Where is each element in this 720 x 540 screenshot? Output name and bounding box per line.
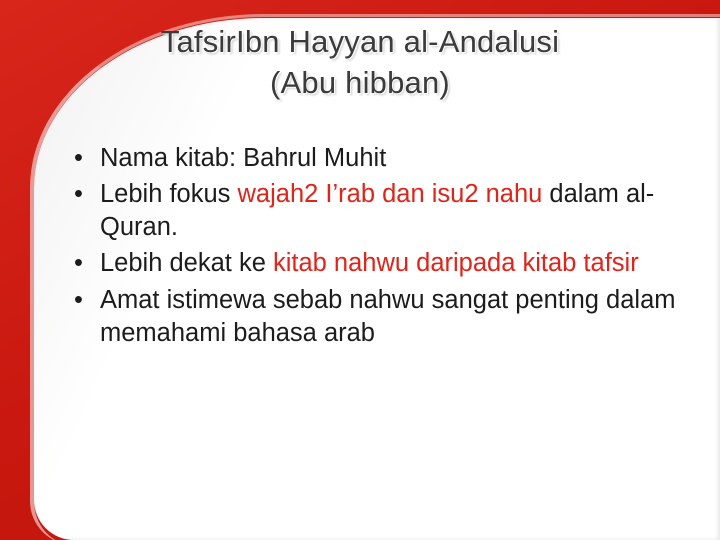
bullet-text-highlight: kitab nahwu daripada kitab tafsir — [273, 249, 639, 277]
presentation-slide: TafsirIbn Hayyan al-Andalusi (Abu hibban… — [0, 0, 720, 540]
bullet-item: •Amat istimewa sebab nahwu sangat pentin… — [62, 284, 684, 350]
bullet-text-highlight: wajah2 I’rab dan isu2 nahu — [238, 180, 543, 208]
slide-title: TafsirIbn Hayyan al-Andalusi (Abu hibban… — [0, 22, 720, 104]
bullet-point-icon: • — [74, 142, 83, 175]
bullet-text: Lebih fokus — [100, 180, 238, 208]
slide-title-line-1: TafsirIbn Hayyan al-Andalusi — [161, 24, 559, 59]
bullet-item: •Lebih dekat ke kitab nahwu daripada kit… — [62, 247, 684, 280]
bullet-text: Amat istimewa sebab nahwu sangat penting… — [100, 286, 676, 347]
bullet-item: •Nama kitab: Bahrul Muhit — [62, 142, 684, 175]
bullet-item: •Lebih fokus wajah2 I’rab dan isu2 nahu … — [62, 178, 684, 244]
bullet-point-icon: • — [74, 284, 83, 317]
slide-title-line-2: (Abu hibban) — [0, 63, 720, 104]
slide-bullet-list: •Nama kitab: Bahrul Muhit•Lebih fokus wa… — [62, 142, 684, 353]
bullet-point-icon: • — [74, 178, 83, 211]
bullet-text: Nama kitab: Bahrul Muhit — [100, 144, 386, 172]
bullet-point-icon: • — [74, 247, 83, 280]
bullet-text: Lebih dekat ke — [100, 249, 273, 277]
